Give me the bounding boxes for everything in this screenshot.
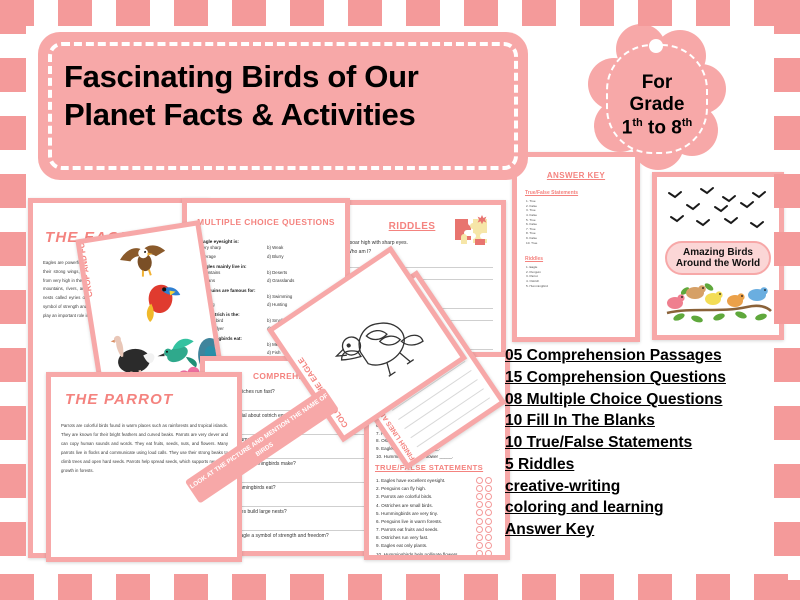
true-false-item: 9. Eagles eat only plants. — [376, 542, 475, 550]
true-false-item: 10. Hummingbirds help pollinate flowers. — [376, 551, 475, 555]
banner-line-1: Amazing Birds — [683, 247, 753, 258]
answer-key-list-2: 1. Eagle2. Penguin3. Parrot4. Ostrich5. … — [526, 265, 548, 288]
border-bottom — [0, 574, 800, 600]
border-left — [0, 0, 26, 600]
grade-line-1: For — [588, 72, 726, 94]
grade-to-suffix: th — [682, 117, 692, 129]
feature-item: 10 True/False Statements — [505, 435, 793, 451]
mcq-option[interactable]: d) Blurry — [267, 253, 339, 261]
mcq-option[interactable]: a) Very sharp — [195, 244, 267, 252]
answer-bubble[interactable] — [485, 509, 492, 516]
border-right — [774, 0, 800, 600]
crop-and-fun-label: CROP AND FUN — [81, 236, 94, 298]
answer-key-section-2: Riddles — [525, 255, 543, 263]
answer-bubble[interactable] — [476, 526, 483, 533]
answer-bubble[interactable] — [476, 477, 483, 484]
true-false-item: 1. Eagles have excellent eyesight. — [376, 477, 475, 485]
parrot-body: Parrots are colorful birds found in warm… — [61, 421, 228, 475]
feature-item: 5 Riddles — [505, 457, 793, 473]
answer-bubble[interactable] — [485, 485, 492, 492]
answer-bubble[interactable] — [485, 526, 492, 533]
true-false-item: 3. Parrots are colorful birds. — [376, 493, 475, 501]
badge-hole — [649, 39, 663, 53]
true-false-item: 4. Ostriches are small birds. — [376, 502, 475, 510]
feature-item: Answer Key — [505, 522, 793, 538]
grade-badge-text: For Grade 1th to 8th — [588, 72, 726, 140]
grade-from: 1 — [622, 117, 633, 138]
answer-key-heading: ANSWER KEY — [523, 171, 629, 180]
riddles-heading: RIDDLES — [367, 221, 457, 232]
answer-bubble[interactable] — [476, 501, 483, 508]
amazing-birds-card[interactable]: Amazing Birds Around the World — [652, 172, 784, 340]
grade-to-word: to — [643, 117, 672, 138]
answer-bubble[interactable] — [485, 518, 492, 525]
answer-bubble[interactable] — [476, 493, 483, 500]
answer-key-item: 4. False — [526, 213, 537, 218]
title-plate: Fascinating Birds of Our Planet Facts & … — [38, 32, 528, 180]
feature-item: 15 Comprehension Questions — [505, 370, 793, 386]
answer-bubble[interactable] — [476, 550, 483, 555]
grade-to: 8 — [671, 117, 682, 138]
mcq-heading: MULTIPLE CHOICE QUESTIONS — [193, 217, 339, 227]
grade-range: 1th to 8th — [588, 117, 726, 140]
amazing-birds-banner: Amazing Birds Around the World — [665, 241, 771, 275]
answer-bubble[interactable] — [476, 542, 483, 549]
border-top — [0, 0, 800, 26]
eagle-outline-illustration — [311, 276, 442, 403]
page-title: Fascinating Birds of Our Planet Facts & … — [64, 58, 510, 134]
answer-bubble[interactable] — [476, 534, 483, 541]
birds-on-branch-illustration — [663, 273, 775, 327]
true-false-list: 1. Eagles have excellent eyesight.2. Pen… — [376, 477, 475, 555]
answer-key-sheet[interactable]: ANSWER KEY True/False Statements 1. True… — [512, 152, 640, 342]
grade-from-suffix: th — [632, 117, 642, 129]
answer-bubble[interactable] — [485, 493, 492, 500]
answer-key-item: 10. True — [526, 241, 537, 246]
answer-bubble[interactable] — [485, 550, 492, 555]
parrot-illustration — [133, 273, 188, 326]
feature-item: 05 Comprehension Passages — [505, 348, 793, 364]
true-false-heading: TRUE/FALSE STATEMENTS — [375, 463, 499, 472]
riddle-item: I soar high with sharp eyes. Who am I? — [347, 239, 493, 256]
answer-bubble[interactable] — [476, 485, 483, 492]
true-false-item: 5. Hummingbirds are very tiny. — [376, 510, 475, 518]
amazing-birds-banner-text: Amazing Birds Around the World — [676, 247, 760, 270]
answer-key-item: 1. True — [526, 199, 537, 204]
answer-key-item: 5. Hummingbird — [526, 284, 548, 289]
feature-item: 10 Fill In The Blanks — [505, 413, 793, 429]
true-false-item: 2. Penguins can fly high. — [376, 485, 475, 493]
banner-line-2: Around the World — [676, 258, 760, 269]
answer-bubble[interactable] — [476, 509, 483, 516]
true-false-answer-bubbles[interactable] — [476, 476, 498, 555]
mcq-option[interactable]: b) Weak — [267, 244, 339, 252]
answer-bubble[interactable] — [476, 518, 483, 525]
answer-bubble[interactable] — [485, 542, 492, 549]
parrot-heading: THE PARROT — [65, 391, 173, 408]
answer-bubble[interactable] — [485, 534, 492, 541]
grade-line-2: Grade — [588, 94, 726, 116]
answer-key-list-1: 1. True2. False3. True4. False5. True6. … — [526, 199, 537, 245]
feature-list: 05 Comprehension Passages15 Comprehensio… — [505, 348, 793, 544]
true-false-item: 8. Ostriches run very fast. — [376, 534, 475, 542]
true-false-item: 7. Parrots eat fruits and seeds. — [376, 526, 475, 534]
feature-item: 08 Multiple Choice Questions — [505, 392, 793, 408]
answer-key-section-1: True/False Statements — [525, 189, 578, 197]
true-false-item: 6. Penguins live in warm forests. — [376, 518, 475, 526]
flying-birds-silhouettes — [661, 181, 775, 239]
answer-bubble[interactable] — [485, 477, 492, 484]
mcq-option[interactable]: d) Grasslands — [267, 277, 339, 285]
feature-item: creative-writing — [505, 479, 793, 495]
mcq-option[interactable]: b) Deserts — [267, 269, 339, 277]
answer-bubble[interactable] — [485, 501, 492, 508]
feature-item: coloring and learning — [505, 500, 793, 516]
poster-canvas: THE EAGLE Eagles are powerful birds foun… — [0, 0, 800, 600]
grade-badge: For Grade 1th to 8th — [588, 24, 726, 172]
fill-blank-item[interactable]: 10. Hummingbirds drink flower _____. — [376, 453, 499, 461]
